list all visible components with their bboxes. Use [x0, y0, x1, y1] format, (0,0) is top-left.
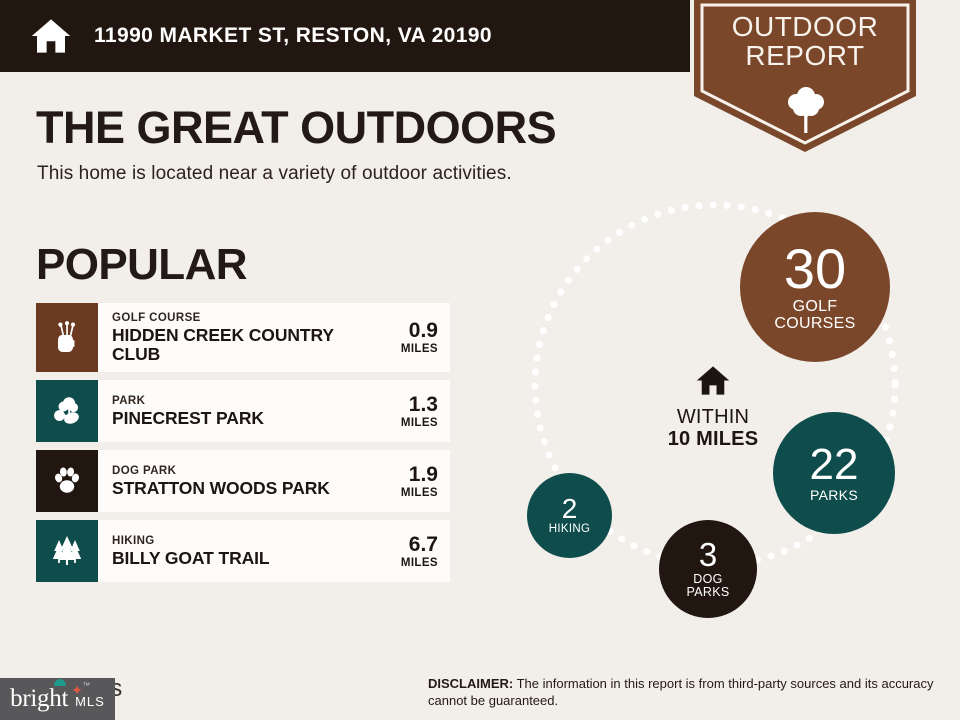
stat-label: DOG PARKS	[687, 573, 730, 599]
list-item-category: HIKING	[112, 535, 360, 548]
golf-bag-icon	[36, 303, 98, 372]
stat-label: HIKING	[549, 523, 590, 535]
stat-value: 30	[784, 242, 846, 295]
list-item-distance-unit: MILES	[401, 343, 438, 355]
stat-bubble-hiking[interactable]: 2 HIKING	[527, 473, 612, 558]
list-item-text: GOLF COURSE HIDDEN CREEK COUNTRY CLUB	[98, 303, 366, 372]
list-item-distance-value: 6.7	[409, 534, 438, 555]
stat-label-line2: PARKS	[687, 586, 730, 599]
list-item-distance-unit: MILES	[401, 487, 438, 499]
outdoor-report-badge: OUTDOOR REPORT	[694, 0, 916, 152]
pine-trees-icon	[36, 520, 98, 582]
amenity-bubble-diagram: 30 GOLF COURSES 22 PARKS 3 DOG PARKS 2 H…	[495, 195, 935, 640]
list-item[interactable]: DOG PARK STRATTON WOODS PARK 1.9 MILES	[36, 450, 450, 512]
diagram-center-line1: WITHIN	[623, 406, 803, 428]
logo-trademark: ™	[82, 681, 90, 690]
stat-label-line1: GOLF	[774, 299, 855, 316]
list-item-distance: 6.7 MILES	[366, 520, 450, 582]
diagram-center-label: WITHIN 10 MILES	[623, 365, 803, 450]
list-item-distance-unit: MILES	[401, 557, 438, 569]
logo-dot-icon	[54, 679, 66, 686]
list-item[interactable]: PARK PINECREST PARK 1.3 MILES	[36, 380, 450, 442]
badge-title-line1: OUTDOOR	[694, 13, 916, 42]
home-icon	[696, 383, 730, 400]
stat-label: PARKS	[810, 488, 858, 503]
stat-label-line2: COURSES	[774, 316, 855, 333]
list-item[interactable]: HIKING BILLY GOAT TRAIL 6.7 MILES	[36, 520, 450, 582]
badge-title-line2: REPORT	[694, 42, 916, 71]
list-item-distance-unit: MILES	[401, 417, 438, 429]
list-item-distance-value: 1.9	[409, 464, 438, 485]
disclaimer: DISCLAIMER: The information in this repo…	[428, 676, 938, 709]
header-address: 11990 MARKET ST, RESTON, VA 20190	[94, 24, 492, 48]
stat-value: 2	[562, 496, 578, 523]
list-item-distance: 1.9 MILES	[366, 450, 450, 512]
list-item-category: DOG PARK	[112, 465, 360, 478]
list-item-name: HIDDEN CREEK COUNTRY CLUB	[112, 326, 360, 364]
stat-label: GOLF COURSES	[774, 299, 855, 333]
stat-bubble-dog-parks[interactable]: 3 DOG PARKS	[659, 520, 757, 618]
list-item-text: PARK PINECREST PARK	[98, 380, 366, 442]
header-bar: 11990 MARKET ST, RESTON, VA 20190	[0, 0, 690, 72]
list-item-name: BILLY GOAT TRAIL	[112, 549, 360, 568]
stat-value: 3	[699, 539, 717, 570]
tree-icon	[787, 85, 825, 133]
paw-print-icon	[36, 450, 98, 512]
popular-list: GOLF COURSE HIDDEN CREEK COUNTRY CLUB 0.…	[36, 303, 450, 590]
stat-value: 22	[810, 444, 859, 486]
list-item-category: GOLF COURSE	[112, 312, 360, 325]
logo-bright-word: bright	[10, 685, 68, 713]
list-item-distance-value: 0.9	[409, 320, 438, 341]
list-item-text: DOG PARK STRATTON WOODS PARK	[98, 450, 366, 512]
list-item-distance-value: 1.3	[409, 394, 438, 415]
list-item-category: PARK	[112, 395, 360, 408]
list-item-text: HIKING BILLY GOAT TRAIL	[98, 520, 366, 582]
page-subtitle: This home is located near a variety of o…	[37, 163, 512, 185]
park-trees-icon	[36, 380, 98, 442]
list-item-distance: 0.9 MILES	[366, 303, 450, 372]
page-title: THE GREAT OUTDOORS	[36, 102, 556, 154]
list-item-name: PINECREST PARK	[112, 409, 360, 428]
diagram-center-line2: 10 MILES	[623, 428, 803, 450]
list-item[interactable]: GOLF COURSE HIDDEN CREEK COUNTRY CLUB 0.…	[36, 303, 450, 372]
stat-bubble-golf-courses[interactable]: 30 GOLF COURSES	[740, 212, 890, 362]
home-icon	[30, 15, 72, 57]
list-item-distance: 1.3 MILES	[366, 380, 450, 442]
list-item-name: STRATTON WOODS PARK	[112, 479, 360, 498]
popular-heading: POPULAR	[36, 240, 247, 290]
disclaimer-label: DISCLAIMER:	[428, 676, 513, 691]
logo-star-icon: ✦	[71, 683, 83, 697]
stat-label-line1: DOG	[687, 573, 730, 586]
brightmls-logo[interactable]: bright ✦ ™ MLS	[0, 678, 115, 720]
badge-title: OUTDOOR REPORT	[694, 13, 916, 70]
